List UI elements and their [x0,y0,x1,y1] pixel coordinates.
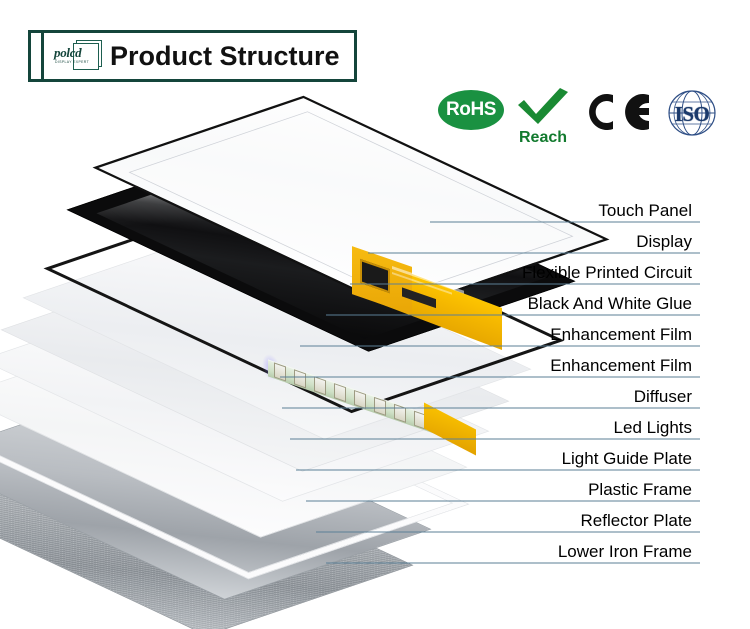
logo-tagline: DISPLAY EXPERT [55,60,89,64]
label-text: Diffuser [634,387,692,407]
page-title: Product Structure [110,41,340,72]
label-row-light-guide-plate: Light Guide Plate [330,444,750,475]
label-row-lower-iron-frame: Lower Iron Frame [330,537,750,568]
label-row-diffuser: Diffuser [330,382,750,413]
layer-label-list: Touch Panel Display Flexible Printed Cir… [330,196,750,568]
label-row-enhancement-film-2: Enhancement Film [330,351,750,382]
label-text: Enhancement Film [550,356,692,376]
ce-badge [586,88,656,136]
product-structure-page: polcd DISPLAY EXPERT Product Structure R… [0,0,750,629]
polcd-logo: polcd DISPLAY EXPERT [52,39,102,73]
label-text: Enhancement Film [550,325,692,345]
label-text: Plastic Frame [588,480,692,500]
label-text: Touch Panel [598,201,692,221]
label-text: Black And White Glue [528,294,692,314]
ce-mark-icon [586,88,656,136]
label-row-reflector-plate: Reflector Plate [330,506,750,537]
label-row-touch-panel: Touch Panel [330,196,750,227]
iso-badge: ISO [664,88,720,138]
label-row-flexible-printed-circuit: Flexible Printed Circuit [330,258,750,289]
label-text: Led Lights [614,418,692,438]
iso-label: ISO [664,102,720,127]
label-text: Display [636,232,692,252]
label-text: Reflector Plate [581,511,693,531]
label-row-enhancement-film-1: Enhancement Film [330,320,750,351]
label-text: Flexible Printed Circuit [522,263,692,283]
logo-wordmark: polcd [54,46,81,59]
label-row-black-and-white-glue: Black And White Glue [330,289,750,320]
label-text: Lower Iron Frame [558,542,692,562]
title-box: polcd DISPLAY EXPERT Product Structure [41,30,357,82]
label-row-plastic-frame: Plastic Frame [330,475,750,506]
page-header: polcd DISPLAY EXPERT Product Structure [28,30,357,82]
label-row-display: Display [330,227,750,258]
label-row-led-lights: Led Lights [330,413,750,444]
label-text: Light Guide Plate [562,449,692,469]
